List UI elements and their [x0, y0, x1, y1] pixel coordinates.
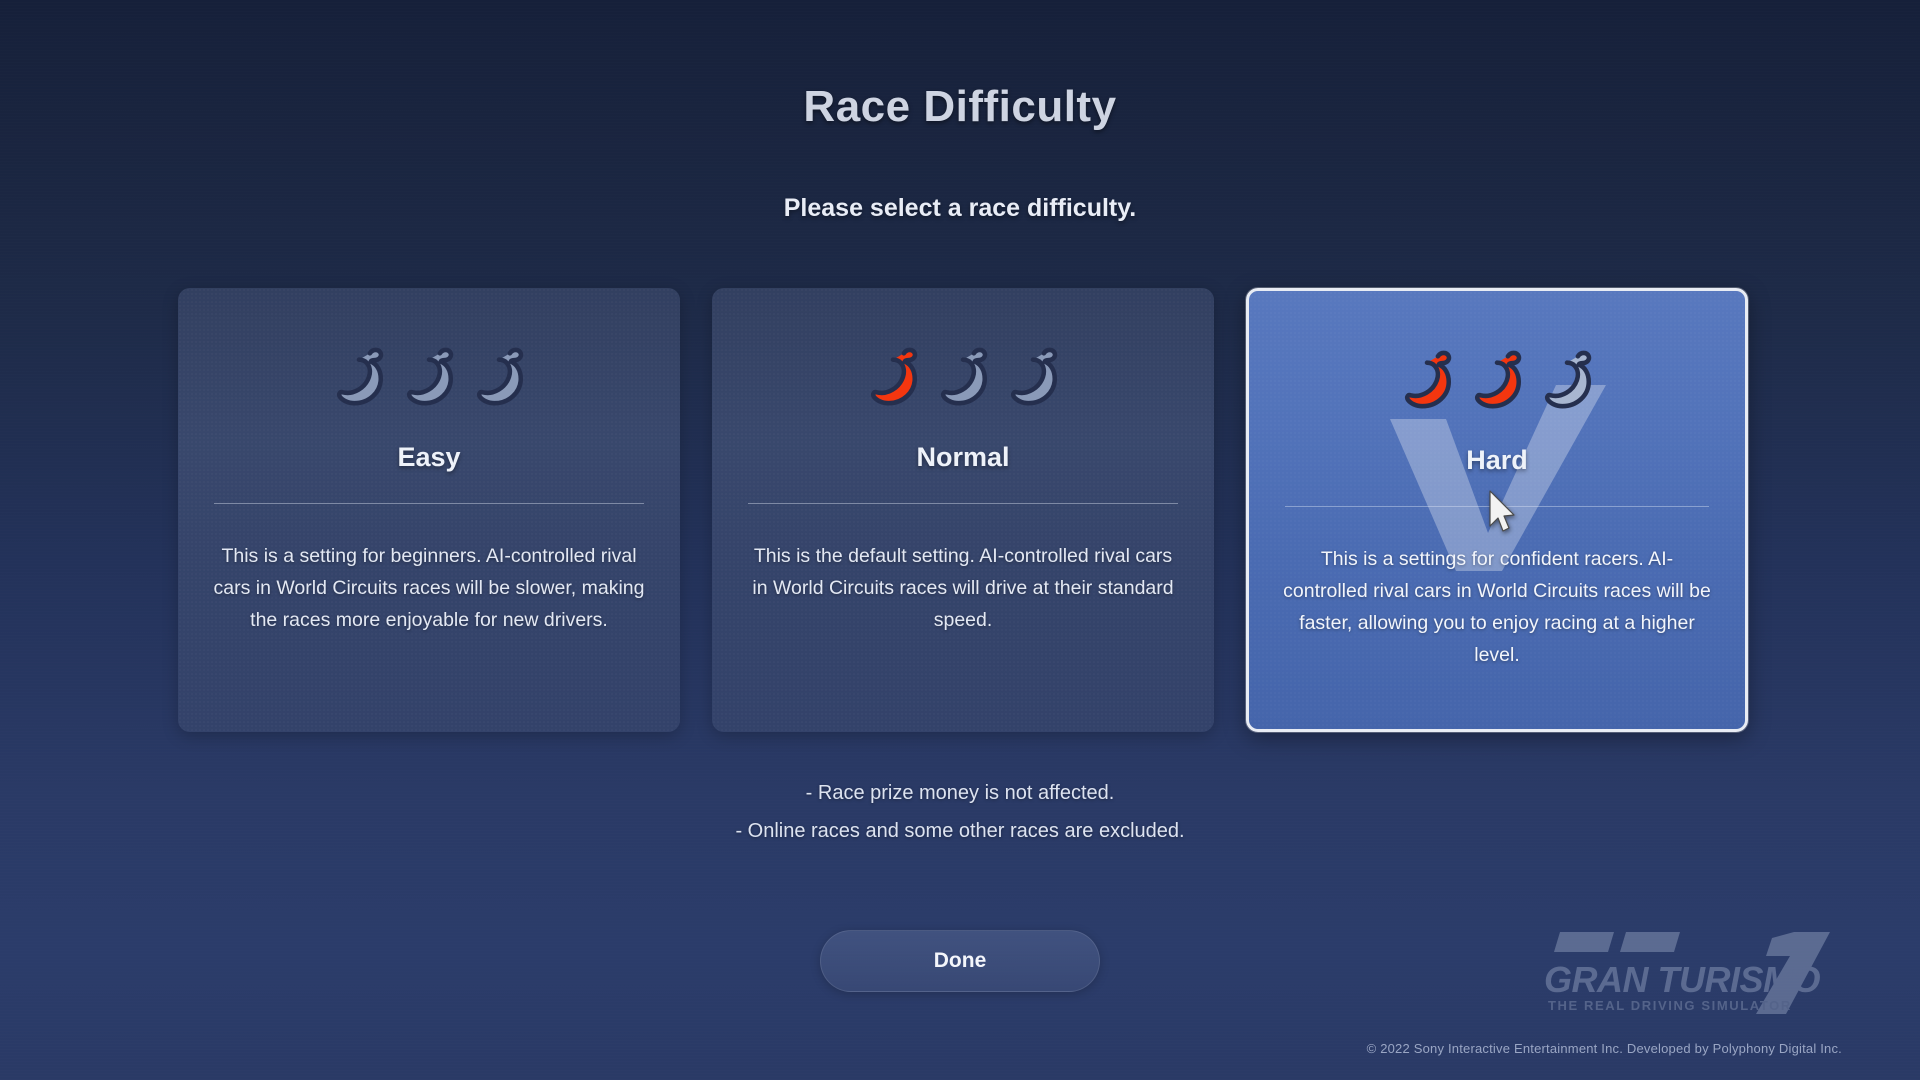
- chili-pepper-icon: [400, 344, 458, 408]
- page-subtitle: Please select a race difficulty.: [0, 194, 1920, 223]
- chili-pepper-icon: [1398, 347, 1456, 411]
- difficulty-card-list: Easy This is a setting for beginners. AI…: [178, 288, 1748, 732]
- card-title-hard: Hard: [1275, 445, 1719, 476]
- chili-pepper-icon: [1538, 347, 1596, 411]
- difficulty-card-normal[interactable]: Normal This is the default setting. AI-c…: [712, 288, 1214, 732]
- chili-pepper-icon: [1004, 344, 1062, 408]
- done-button[interactable]: Done: [820, 930, 1100, 992]
- chili-pepper-icon: [864, 344, 922, 408]
- svg-text:GRAN TURISMO: GRAN TURISMO: [1544, 959, 1820, 1000]
- pepper-rating-hard: [1275, 291, 1719, 423]
- card-divider: [1285, 506, 1709, 507]
- difficulty-card-hard[interactable]: Hard This is a settings for confident ra…: [1246, 288, 1748, 732]
- card-divider: [214, 503, 644, 504]
- chili-pepper-icon: [330, 344, 388, 408]
- notes-list: - Race prize money is not affected. - On…: [0, 774, 1920, 850]
- card-description-normal: This is the default setting. AI-controll…: [738, 540, 1188, 636]
- card-description-easy: This is a setting for beginners. AI-cont…: [204, 540, 654, 636]
- card-title-normal: Normal: [738, 442, 1188, 473]
- chili-pepper-icon: [1468, 347, 1526, 411]
- difficulty-card-easy[interactable]: Easy This is a setting for beginners. AI…: [178, 288, 680, 732]
- chili-pepper-icon: [470, 344, 528, 408]
- chili-pepper-icon: [934, 344, 992, 408]
- svg-text:THE REAL DRIVING SIMULATOR: THE REAL DRIVING SIMULATOR: [1548, 998, 1792, 1013]
- card-title-easy: Easy: [204, 442, 654, 473]
- copyright-text: © 2022 Sony Interactive Entertainment In…: [1367, 1041, 1842, 1056]
- pepper-rating-easy: [204, 288, 654, 420]
- pepper-rating-normal: [738, 288, 1188, 420]
- card-divider: [748, 503, 1178, 504]
- note-line: - Race prize money is not affected.: [0, 774, 1920, 812]
- note-line: - Online races and some other races are …: [0, 812, 1920, 850]
- page-title: Race Difficulty: [0, 82, 1920, 132]
- card-description-hard: This is a settings for confident racers.…: [1275, 543, 1719, 671]
- gran-turismo-logo: GRAN TURISMO THE REAL DRIVING SIMULATOR: [1542, 930, 1842, 1016]
- race-difficulty-screen: Race Difficulty Please select a race dif…: [0, 0, 1920, 1080]
